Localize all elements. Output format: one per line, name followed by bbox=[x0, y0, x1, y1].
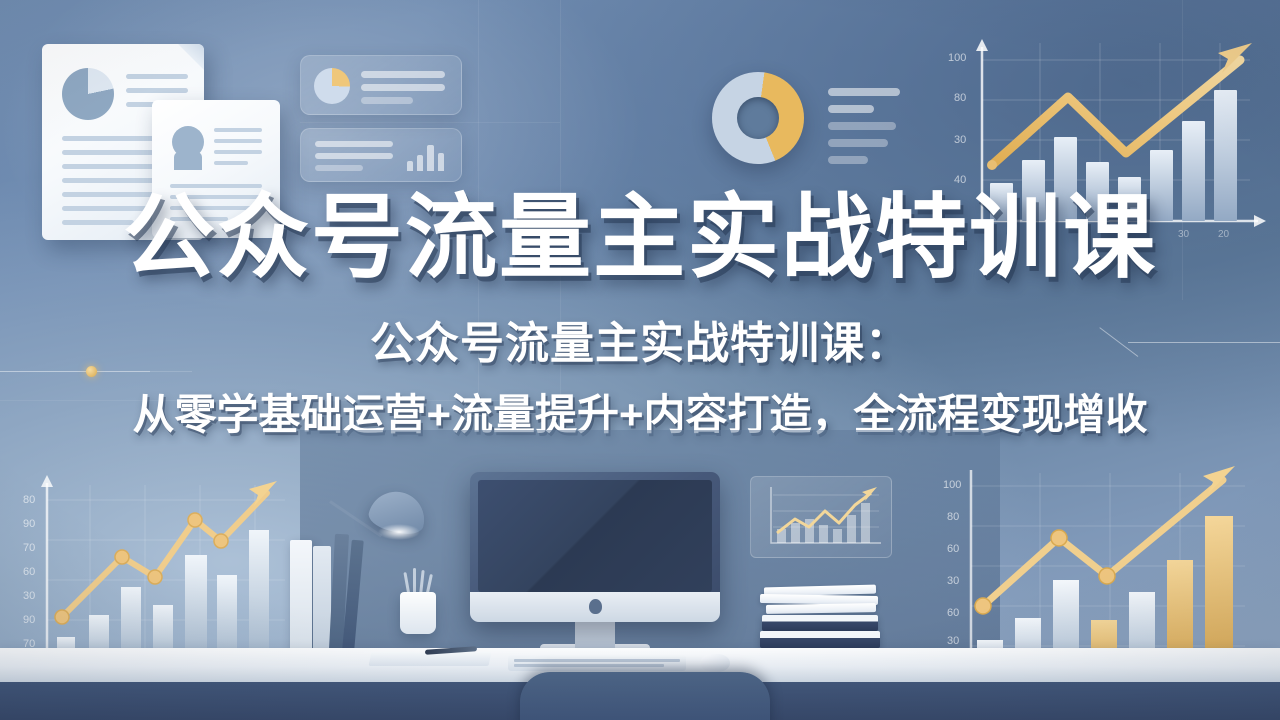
course-banner: 100 80 30 40 30 20 公众号流量主 bbox=[0, 0, 1280, 720]
vignette-overlay bbox=[0, 0, 1280, 720]
